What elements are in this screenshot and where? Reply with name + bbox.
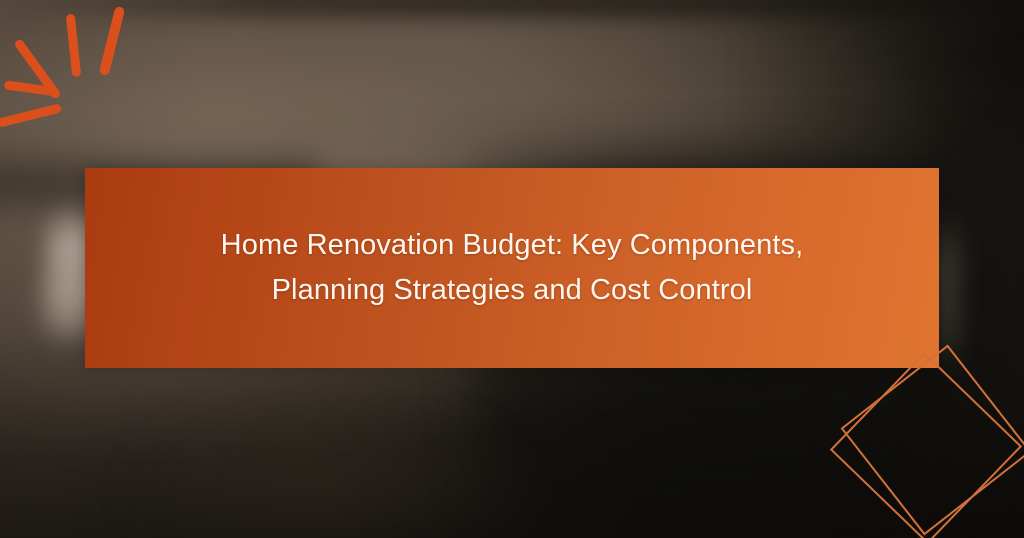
page-title-line-1: Home Renovation Budget: Key Components, — [192, 223, 832, 268]
title-banner: Home Renovation Budget: Key Components, … — [85, 168, 939, 368]
slide-canvas: Home Renovation Budget: Key Components, … — [0, 0, 1024, 538]
page-title: Home Renovation Budget: Key Components, … — [192, 223, 832, 313]
page-title-line-2: Planning Strategies and Cost Control — [192, 268, 832, 313]
